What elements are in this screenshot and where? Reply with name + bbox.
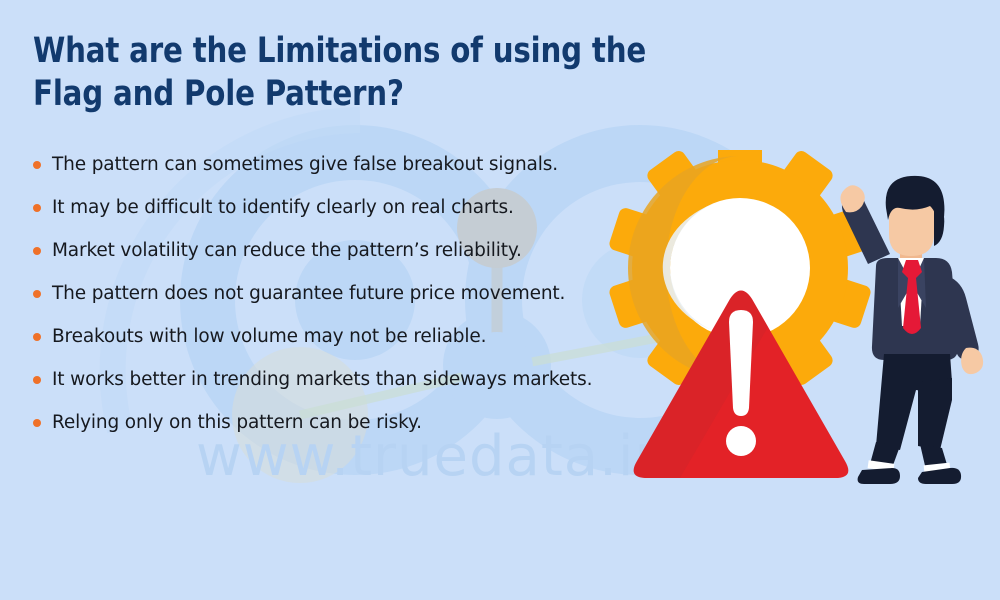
bullet-dot-icon	[33, 247, 41, 255]
list-item-label: Relying only on this pattern can be risk…	[52, 410, 630, 436]
shoe	[858, 468, 900, 484]
bullet-dot-icon	[33, 204, 41, 212]
list-item: The pattern does not guarantee future pr…	[30, 281, 630, 307]
bullet-dot-icon	[33, 290, 41, 298]
list-item: Market volatility can reduce the pattern…	[30, 238, 630, 264]
list-item: It may be difficult to identify clearly …	[30, 195, 630, 221]
bullet-dot-icon	[33, 333, 41, 341]
bullet-dot-icon	[33, 161, 41, 169]
page-title-line-1: What are the Limitations of using the	[33, 30, 628, 73]
page-title: What are the Limitations of using the Fl…	[33, 30, 628, 116]
page-title-line-2: Flag and Pole Pattern?	[33, 73, 628, 116]
infographic-page: www.truedata.in What are the Limitations…	[0, 0, 1000, 600]
list-item: It works better in trending markets than…	[30, 367, 630, 393]
limitations-list: The pattern can sometimes give false bre…	[30, 152, 630, 436]
list-item: Relying only on this pattern can be risk…	[30, 410, 630, 436]
businessman-figure	[840, 176, 983, 484]
list-item-label: It may be difficult to identify clearly …	[52, 195, 630, 221]
list-item-label: The pattern does not guarantee future pr…	[52, 281, 630, 307]
list-item-label: The pattern can sometimes give false bre…	[52, 152, 630, 178]
list-item: The pattern can sometimes give false bre…	[30, 152, 630, 178]
warning-gear-businessman-illustration	[600, 150, 1000, 490]
hand	[961, 348, 983, 374]
bullet-dot-icon	[33, 419, 41, 427]
list-item-label: Breakouts with low volume may not be rel…	[52, 324, 630, 350]
list-item: Breakouts with low volume may not be rel…	[30, 324, 630, 350]
list-item-label: It works better in trending markets than…	[52, 367, 630, 393]
bullet-dot-icon	[33, 376, 41, 384]
list-item-label: Market volatility can reduce the pattern…	[52, 238, 630, 264]
